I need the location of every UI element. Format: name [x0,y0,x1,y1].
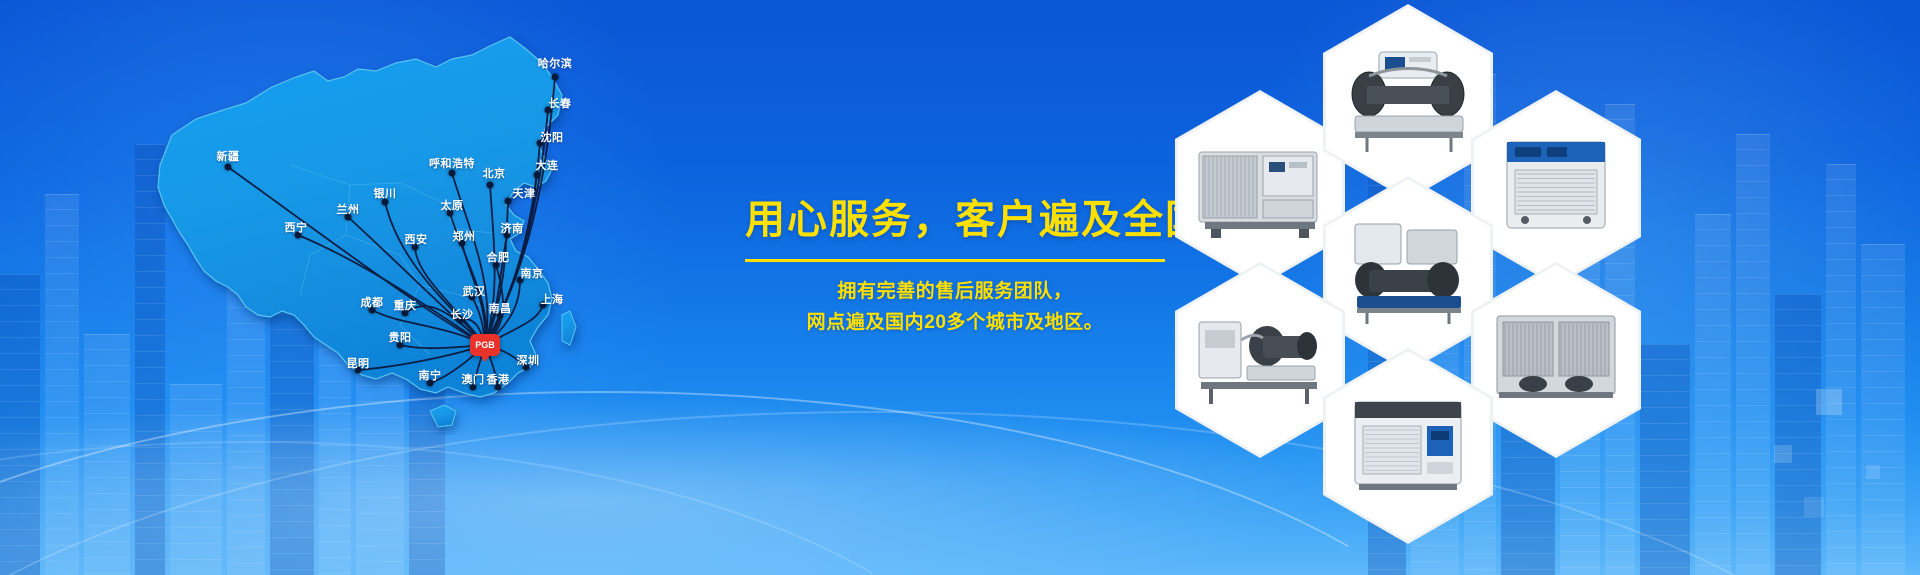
map-city-label: 长春 [549,95,572,111]
map-city-label: 新疆 [217,148,240,164]
map-city-label: 深圳 [517,352,540,368]
map-city-label: 呼和浩特 [429,155,475,171]
banner-subtext-line-2: 网点遍及国内20多个城市及地区。 [745,307,1165,338]
hub-marker-label: PGB [470,334,500,356]
map-city-label: 北京 [483,165,506,181]
product-hex-compressor-unit [1175,262,1345,458]
map-city-label: 大连 [536,157,559,173]
map-city-label: 南宁 [419,367,442,383]
map-city-label: 成都 [361,294,384,310]
map-city-label: 郑州 [453,228,476,244]
product-hex-industrial-condenser-unit [1323,176,1493,372]
map-city-label: 南昌 [489,300,512,316]
map-city-label: 重庆 [394,297,417,313]
map-city-label: 西安 [405,231,428,247]
headline-divider [745,259,1165,262]
product-image [1326,351,1490,541]
product-hex-air-cooled-condenser [1471,262,1641,458]
map-city-label: 南京 [521,265,544,281]
map-city-label: 上海 [541,291,564,307]
promo-banner: 哈尔滨长春沈阳大连北京天津呼和浩特银川太原济南郑州西安兰州新疆西宁合肥南京上海武… [0,0,1920,575]
map-city-label: 澳门 [462,371,485,387]
map-city-label: 武汉 [463,283,486,299]
map-city-label: 贵阳 [389,329,412,345]
product-image [1474,93,1638,283]
map-city-dot [505,198,512,205]
map-city-label: 合肥 [487,249,510,265]
product-hex-water-cooled-screw-chiller [1323,4,1493,200]
map-city-dot [552,74,559,81]
map-city-label: 香港 [487,371,510,387]
map-city-label: 兰州 [337,201,360,217]
product-hex-collage [1175,0,1795,575]
product-image [1474,265,1638,455]
product-image [1326,179,1490,369]
product-image [1178,265,1342,455]
product-hex-air-cooled-box-chiller [1175,90,1345,286]
banner-text-block: 用心服务，客户遍及全国 拥有完善的售后服务团队， 网点遍及国内20多个城市及地区… [745,198,1165,339]
china-map: 哈尔滨长春沈阳大连北京天津呼和浩特银川太原济南郑州西安兰州新疆西宁合肥南京上海武… [100,15,720,435]
map-city-label: 哈尔滨 [538,55,573,71]
map-city-label: 银川 [374,185,397,201]
china-map-svg [100,15,720,435]
map-city-label: 长沙 [451,306,474,322]
product-hex-box-type-water-chiller [1323,348,1493,544]
product-hex-portable-chiller-blue [1471,90,1641,286]
product-image [1178,93,1342,283]
map-city-dot [225,164,232,171]
map-city-label: 昆明 [347,355,370,371]
map-city-dot [487,182,494,189]
product-image [1326,7,1490,197]
map-city-label: 济南 [501,220,524,236]
banner-subtext-line-1: 拥有完善的售后服务团队， [745,276,1165,307]
banner-headline: 用心服务，客户遍及全国 [745,198,1165,242]
map-city-label: 西宁 [285,219,308,235]
map-city-label: 天津 [513,185,536,201]
hub-marker: PGB [470,334,500,356]
map-city-label: 沈阳 [541,129,564,145]
map-city-label: 太原 [441,197,464,213]
